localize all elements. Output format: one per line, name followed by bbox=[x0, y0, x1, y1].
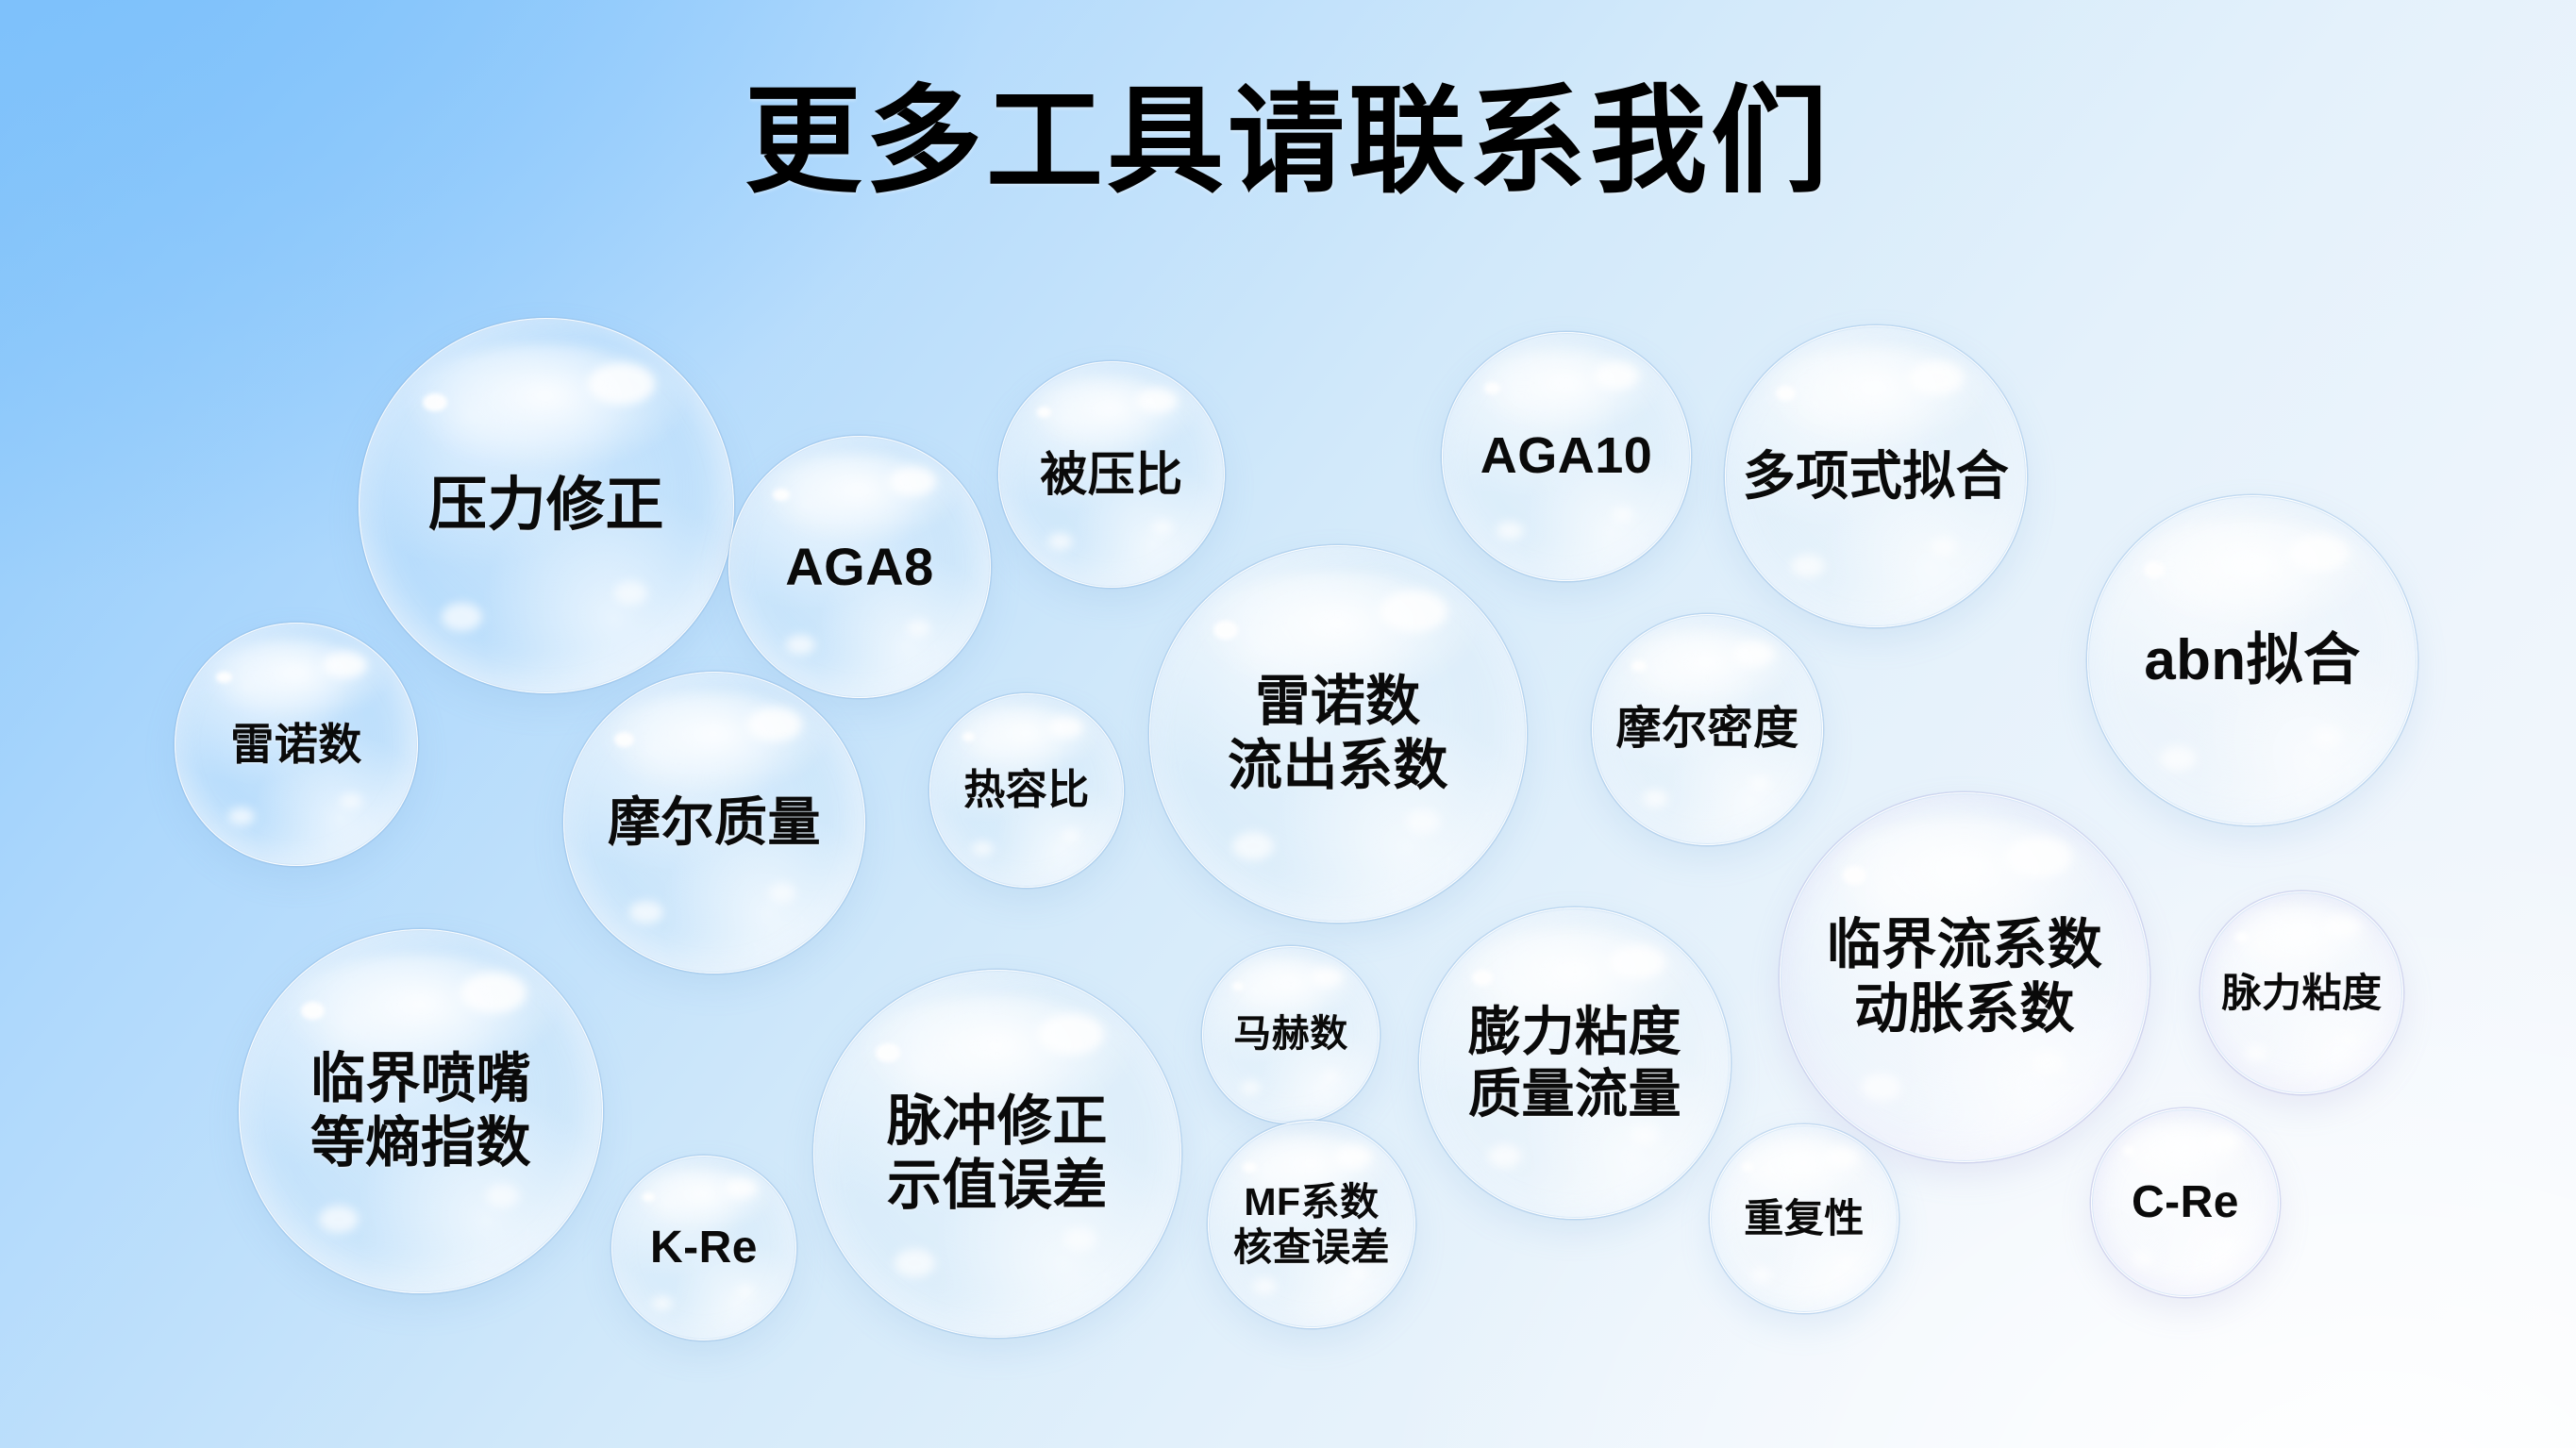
bubble-highlight-d bbox=[1749, 776, 1770, 791]
bubble-highlight-c bbox=[319, 1206, 359, 1233]
bubble-highlight-a bbox=[614, 732, 634, 747]
bubble-label: abn拟合 bbox=[2144, 627, 2360, 694]
bubble-highlight-c bbox=[1232, 832, 1274, 860]
bubble-highlight-d bbox=[2312, 726, 2342, 748]
bubble-highlight-b bbox=[747, 707, 802, 741]
bubble-item[interactable]: MF系数 核查误差 bbox=[1208, 1121, 1415, 1328]
bubble-item[interactable]: abn拟合 bbox=[2087, 495, 2417, 825]
bubble-highlight-b bbox=[1732, 641, 1774, 667]
bubble-highlight-c bbox=[1241, 1081, 1261, 1094]
bubble-highlight-b bbox=[1038, 1014, 1104, 1055]
bubble-highlight-a bbox=[643, 1192, 655, 1202]
bubble-highlight-b bbox=[1609, 945, 1664, 979]
page-title: 更多工具请联系我们 bbox=[0, 45, 2576, 215]
bubble-canvas: 更多工具请联系我们 压力修正雷诺数AGA8被压比AGA10多项式拟合abn拟合摩… bbox=[0, 0, 2576, 1448]
bubble-highlight-d bbox=[1152, 520, 1173, 535]
bubble-highlight-a bbox=[1742, 1162, 1754, 1172]
bubble-highlight-a bbox=[876, 1043, 899, 1062]
bubble-highlight-c bbox=[1791, 555, 1824, 577]
bubble-highlight-d bbox=[2338, 1034, 2356, 1047]
bubble-highlight-c bbox=[972, 841, 994, 856]
bubble-item[interactable]: 摩尔质量 bbox=[563, 672, 865, 974]
bubble-highlight-b bbox=[1594, 362, 1639, 390]
bubble-label: K-Re bbox=[650, 1222, 758, 1275]
bubble-label: 被压比 bbox=[1040, 447, 1183, 503]
bubble-highlight-c bbox=[228, 807, 255, 825]
bubble-label: 临界喷嘴 等熵指数 bbox=[310, 1047, 531, 1176]
bubble-highlight-d bbox=[1838, 1257, 1855, 1269]
bubble-highlight-b bbox=[1311, 968, 1343, 988]
bubble-highlight-a bbox=[301, 1002, 325, 1020]
bubble-highlight-c bbox=[1497, 522, 1524, 541]
bubble-highlight-b bbox=[460, 973, 526, 1012]
bubble-highlight-b bbox=[588, 363, 656, 405]
bubble-highlight-b bbox=[323, 652, 366, 678]
bubble-highlight-c bbox=[442, 603, 483, 631]
bubble-highlight-a bbox=[216, 672, 232, 684]
bubble-item[interactable]: 脉力粘度 bbox=[2200, 891, 2403, 1094]
bubble-highlight-a bbox=[773, 489, 790, 502]
bubble-highlight-d bbox=[1406, 809, 1440, 834]
bubble-label: MF系数 核查误差 bbox=[1233, 1179, 1390, 1271]
bubble-highlight-b bbox=[2289, 535, 2349, 572]
bubble-label: 雷诺数 bbox=[230, 719, 362, 770]
bubble-highlight-b bbox=[2324, 916, 2361, 939]
bubble-highlight-d bbox=[1631, 1125, 1659, 1145]
bubble-highlight-d bbox=[1063, 1227, 1096, 1251]
bubble-highlight-c bbox=[1488, 1144, 1522, 1168]
bubble-highlight-a bbox=[1776, 386, 1796, 401]
bubble-label: 摩尔质量 bbox=[608, 791, 821, 854]
bubble-highlight-c bbox=[1751, 1268, 1772, 1282]
bubble-highlight-d bbox=[1612, 507, 1634, 523]
bubble-highlight-c bbox=[2245, 1045, 2267, 1060]
bubble-highlight-c bbox=[652, 1296, 673, 1310]
bubble-highlight-a bbox=[962, 732, 975, 741]
bubble-highlight-c bbox=[2160, 746, 2197, 771]
bubble-highlight-a bbox=[1843, 866, 1866, 885]
bubble-highlight-c bbox=[2133, 1252, 2153, 1266]
bubble-label: 重复性 bbox=[1744, 1195, 1865, 1242]
bubble-highlight-c bbox=[1643, 790, 1668, 807]
bubble-item[interactable]: 马赫数 bbox=[1202, 946, 1380, 1123]
bubble-item[interactable]: K-Re bbox=[611, 1156, 796, 1340]
bubble-item[interactable]: 重复性 bbox=[1710, 1124, 1899, 1313]
bubble-highlight-d bbox=[769, 883, 796, 903]
bubble-label: 脉力粘度 bbox=[2221, 970, 2382, 1017]
bubble-highlight-a bbox=[1232, 982, 1244, 990]
bubble-highlight-a bbox=[1037, 407, 1052, 418]
bubble-highlight-a bbox=[2123, 1146, 2135, 1156]
bubble-label: 脉冲修正 示值误差 bbox=[887, 1090, 1108, 1219]
bubble-highlight-b bbox=[2005, 837, 2072, 877]
bubble-item[interactable]: 热容比 bbox=[929, 693, 1124, 888]
bubble-highlight-d bbox=[340, 793, 361, 809]
bubble-item[interactable]: 多项式拟合 bbox=[1725, 325, 2027, 627]
bubble-highlight-b bbox=[1136, 389, 1177, 413]
bubble-highlight-c bbox=[1048, 533, 1073, 550]
bubble-label: 摩尔密度 bbox=[1615, 703, 1798, 757]
bubble-highlight-a bbox=[2144, 561, 2166, 578]
bubble-highlight-c bbox=[895, 1249, 935, 1276]
bubble-highlight-b bbox=[1825, 1147, 1859, 1168]
bubble-item[interactable]: 脉冲修正 示值误差 bbox=[813, 970, 1181, 1338]
bubble-highlight-b bbox=[1909, 361, 1964, 394]
bubble-highlight-c bbox=[786, 635, 815, 655]
bubble-item[interactable]: AGA10 bbox=[1442, 332, 1691, 581]
bubble-highlight-b bbox=[1334, 1145, 1372, 1168]
bubble-label: 雷诺数 流出系数 bbox=[1228, 670, 1448, 799]
bubble-label: 压力修正 bbox=[428, 471, 664, 540]
bubble-item[interactable]: AGA8 bbox=[728, 436, 991, 698]
bubble-item[interactable]: 雷诺数 bbox=[175, 623, 418, 866]
bubble-item[interactable]: 摩尔密度 bbox=[1592, 614, 1823, 845]
bubble-highlight-a bbox=[1631, 660, 1647, 672]
bubble-label: 马赫数 bbox=[1233, 1012, 1348, 1057]
bubble-highlight-d bbox=[1931, 537, 1958, 557]
bubble-highlight-a bbox=[1243, 1162, 1256, 1173]
bubble-label: AGA10 bbox=[1480, 426, 1653, 487]
bubble-highlight-d bbox=[1062, 829, 1079, 841]
bubble-highlight-a bbox=[1472, 970, 1492, 986]
bubble-label: C-Re bbox=[2132, 1176, 2239, 1230]
bubble-label: 膨力粘度 质量流量 bbox=[1468, 1001, 1681, 1125]
bubble-highlight-c bbox=[629, 901, 662, 924]
bubble-label: 多项式拟合 bbox=[1743, 445, 2010, 508]
bubble-highlight-a bbox=[1213, 621, 1238, 640]
bubble-highlight-b bbox=[1380, 591, 1447, 632]
bubble-item[interactable]: 雷诺数 流出系数 bbox=[1149, 545, 1527, 923]
bubble-highlight-b bbox=[1048, 717, 1083, 739]
bubble-highlight-a bbox=[1484, 382, 1500, 394]
bubble-highlight-d bbox=[2219, 1240, 2236, 1253]
bubble-item[interactable]: 压力修正 bbox=[359, 318, 734, 693]
bubble-highlight-d bbox=[614, 581, 648, 606]
bubble-item[interactable]: C-Re bbox=[2091, 1108, 2280, 1297]
bubble-label: 临界流系数 动胀系数 bbox=[1827, 913, 2103, 1042]
bubble-highlight-b bbox=[2206, 1131, 2240, 1152]
bubble-highlight-d bbox=[2032, 1051, 2065, 1074]
bubble-item[interactable]: 临界流系数 动胀系数 bbox=[1780, 792, 2149, 1162]
bubble-label: 热容比 bbox=[963, 766, 1090, 815]
bubble-highlight-d bbox=[486, 1184, 519, 1207]
bubble-label: AGA8 bbox=[785, 536, 934, 598]
bubble-highlight-d bbox=[907, 620, 930, 637]
bubble-item[interactable]: 膨力粘度 质量流量 bbox=[1419, 907, 1731, 1219]
bubble-highlight-b bbox=[889, 467, 936, 496]
bubble-item[interactable]: 被压比 bbox=[998, 361, 1225, 588]
bubble-item[interactable]: 临界喷嘴 等熵指数 bbox=[239, 929, 603, 1293]
bubble-highlight-c bbox=[1861, 1074, 1901, 1101]
bubble-highlight-d bbox=[1323, 1071, 1339, 1082]
bubble-highlight-c bbox=[1253, 1278, 1276, 1294]
bubble-highlight-a bbox=[423, 393, 447, 412]
bubble-highlight-a bbox=[2235, 932, 2249, 942]
bubble-highlight-d bbox=[737, 1285, 754, 1297]
bubble-highlight-b bbox=[725, 1178, 758, 1199]
